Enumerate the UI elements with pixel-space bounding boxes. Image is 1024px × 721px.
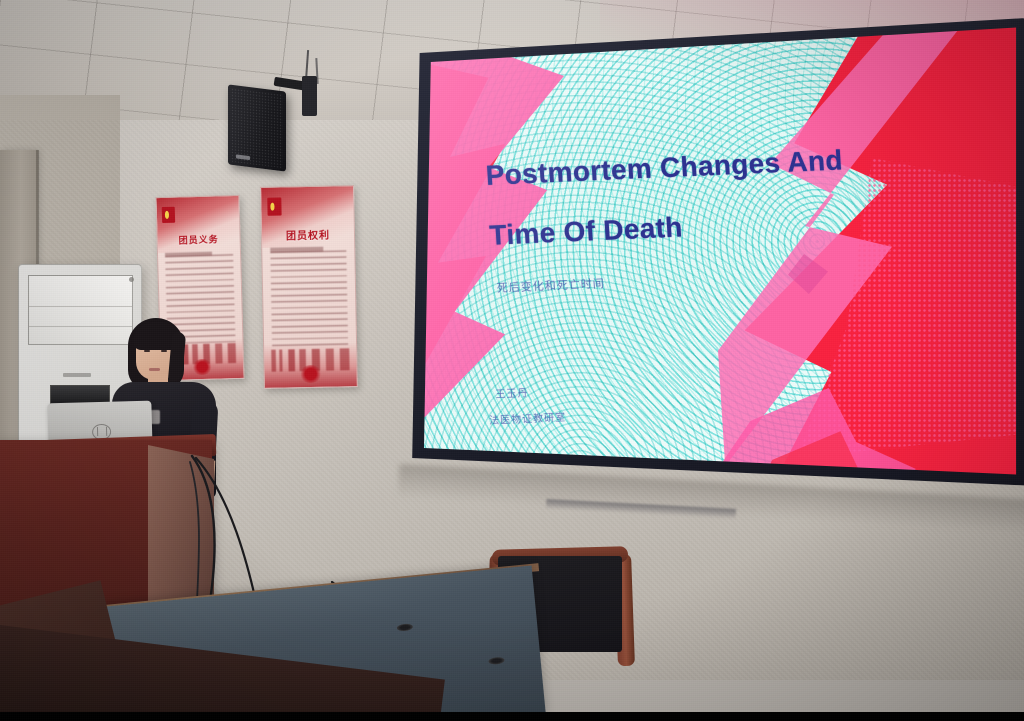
slide-subtitle-chinese: 死后变化和死亡时间 — [496, 275, 605, 296]
slide-title-line1: Postmortem Changes And — [485, 144, 844, 191]
slide-department: 法医物证教研室 — [489, 409, 567, 427]
ac-indicator-light — [129, 277, 134, 282]
slide-text-layer: Postmortem Changes And Time Of Death 死后变… — [406, 18, 1024, 518]
flag-icon — [267, 198, 282, 216]
poster-text-block — [271, 250, 348, 347]
display-wall-mount — [546, 499, 736, 519]
poster-title: 团员义务 — [157, 232, 239, 247]
classroom-photo-scene: 团员义务 团员权利 — [0, 0, 1024, 721]
presenter-mouth — [149, 368, 160, 371]
wall-mounted-display[interactable]: Postmortem Changes And Time Of Death 死后变… — [406, 18, 1024, 518]
flag-icon — [162, 207, 176, 224]
wall-speaker — [228, 78, 318, 178]
presentation-slide: Postmortem Changes And Time Of Death 死后变… — [406, 18, 1024, 518]
presenter-eye-left — [144, 350, 150, 352]
presenter-eye-right — [161, 350, 167, 352]
wall-poster-rights: 团员权利 — [260, 185, 358, 389]
ac-brand-logo — [63, 373, 91, 377]
display-panel[interactable]: Postmortem Changes And Time Of Death 死后变… — [406, 18, 1024, 518]
table-grommet — [397, 623, 414, 632]
speaker-wall-bracket — [302, 76, 317, 116]
table-grommet — [488, 657, 505, 666]
speaker-cabinet — [228, 84, 286, 171]
slide-title: Postmortem Changes And Time Of Death — [484, 129, 891, 266]
slide-author-name: 王玉丹 — [495, 384, 529, 400]
poster-title: 团员权利 — [262, 226, 354, 243]
ac-panel-seam — [29, 306, 132, 307]
presenter-hair-side — [168, 331, 186, 382]
slide-title-line2: Time Of Death — [488, 188, 891, 265]
photo-bottom-border — [0, 712, 1024, 721]
